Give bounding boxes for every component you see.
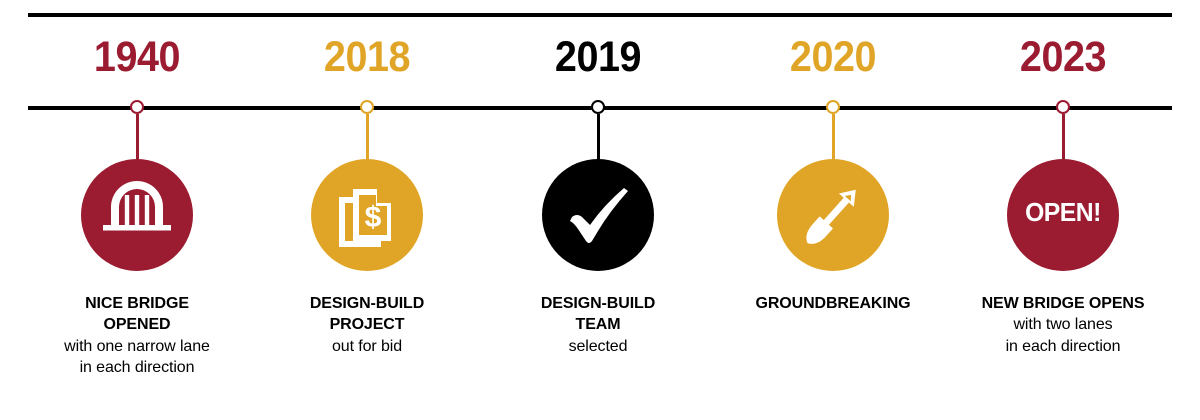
caption-line: NEW BRIDGE OPENS — [943, 293, 1183, 314]
event-year-label: 2018 — [257, 36, 478, 79]
event-icon-badge[interactable] — [777, 159, 889, 271]
caption-line: DESIGN-BUILD — [478, 293, 718, 314]
timeline-connector-stem — [1062, 114, 1065, 162]
event-year-label: 2019 — [488, 36, 709, 79]
caption-line: in each direction — [17, 357, 257, 378]
timeline-node-marker[interactable] — [360, 100, 374, 114]
caption-line: GROUNDBREAKING — [713, 293, 953, 314]
timeline-node-marker[interactable] — [826, 100, 840, 114]
caption-line: selected — [478, 336, 718, 357]
event-icon-badge[interactable]: $ — [311, 159, 423, 271]
open-badge-text: OPEN! — [1010, 156, 1116, 268]
event-icon-badge[interactable]: OPEN! — [1007, 159, 1119, 271]
caption-line: with one narrow lane — [17, 336, 257, 357]
event-caption: DESIGN-BUILDTEAMselected — [478, 293, 718, 357]
bridge-icon — [81, 159, 193, 271]
event-icon-badge[interactable] — [81, 159, 193, 271]
shovel-icon — [777, 159, 889, 271]
event-year-label: 2023 — [953, 36, 1174, 79]
timeline-event-2018[interactable]: 2018$DESIGN-BUILDPROJECTout for bid — [247, 0, 487, 420]
timeline-connector-stem — [136, 114, 139, 162]
event-year-label: 1940 — [27, 36, 248, 79]
event-year-label: 2020 — [723, 36, 944, 79]
timeline-event-1940[interactable]: 1940NICE BRIDGEOPENEDwith one narrow lan… — [17, 0, 257, 420]
timeline-infographic: 1940NICE BRIDGEOPENEDwith one narrow lan… — [0, 0, 1200, 420]
event-caption: GROUNDBREAKING — [713, 293, 953, 314]
timeline-connector-stem — [832, 114, 835, 162]
checkmark-icon — [542, 159, 654, 271]
event-icon-badge[interactable] — [542, 159, 654, 271]
event-caption: NICE BRIDGEOPENEDwith one narrow lanein … — [17, 293, 257, 378]
timeline-connector-stem — [366, 114, 369, 162]
caption-line: NICE BRIDGE — [17, 293, 257, 314]
caption-line: in each direction — [943, 336, 1183, 357]
event-caption: NEW BRIDGE OPENSwith two lanesin each di… — [943, 293, 1183, 357]
timeline-event-2019[interactable]: 2019DESIGN-BUILDTEAMselected — [478, 0, 718, 420]
caption-line: OPENED — [17, 314, 257, 335]
timeline-node-marker[interactable] — [130, 100, 144, 114]
caption-line: PROJECT — [247, 314, 487, 335]
timeline-event-2023[interactable]: 2023OPEN!NEW BRIDGE OPENSwith two lanesi… — [943, 0, 1183, 420]
caption-line: with two lanes — [943, 314, 1183, 335]
caption-line: out for bid — [247, 336, 487, 357]
svg-text:$: $ — [365, 201, 382, 234]
caption-line: DESIGN-BUILD — [247, 293, 487, 314]
event-caption: DESIGN-BUILDPROJECTout for bid — [247, 293, 487, 357]
timeline-node-marker[interactable] — [591, 100, 605, 114]
timeline-connector-stem — [597, 114, 600, 162]
documents-dollar-icon: $ — [311, 159, 423, 271]
caption-line: TEAM — [478, 314, 718, 335]
timeline-node-marker[interactable] — [1056, 100, 1070, 114]
timeline-event-2020[interactable]: 2020GROUNDBREAKING — [713, 0, 953, 420]
